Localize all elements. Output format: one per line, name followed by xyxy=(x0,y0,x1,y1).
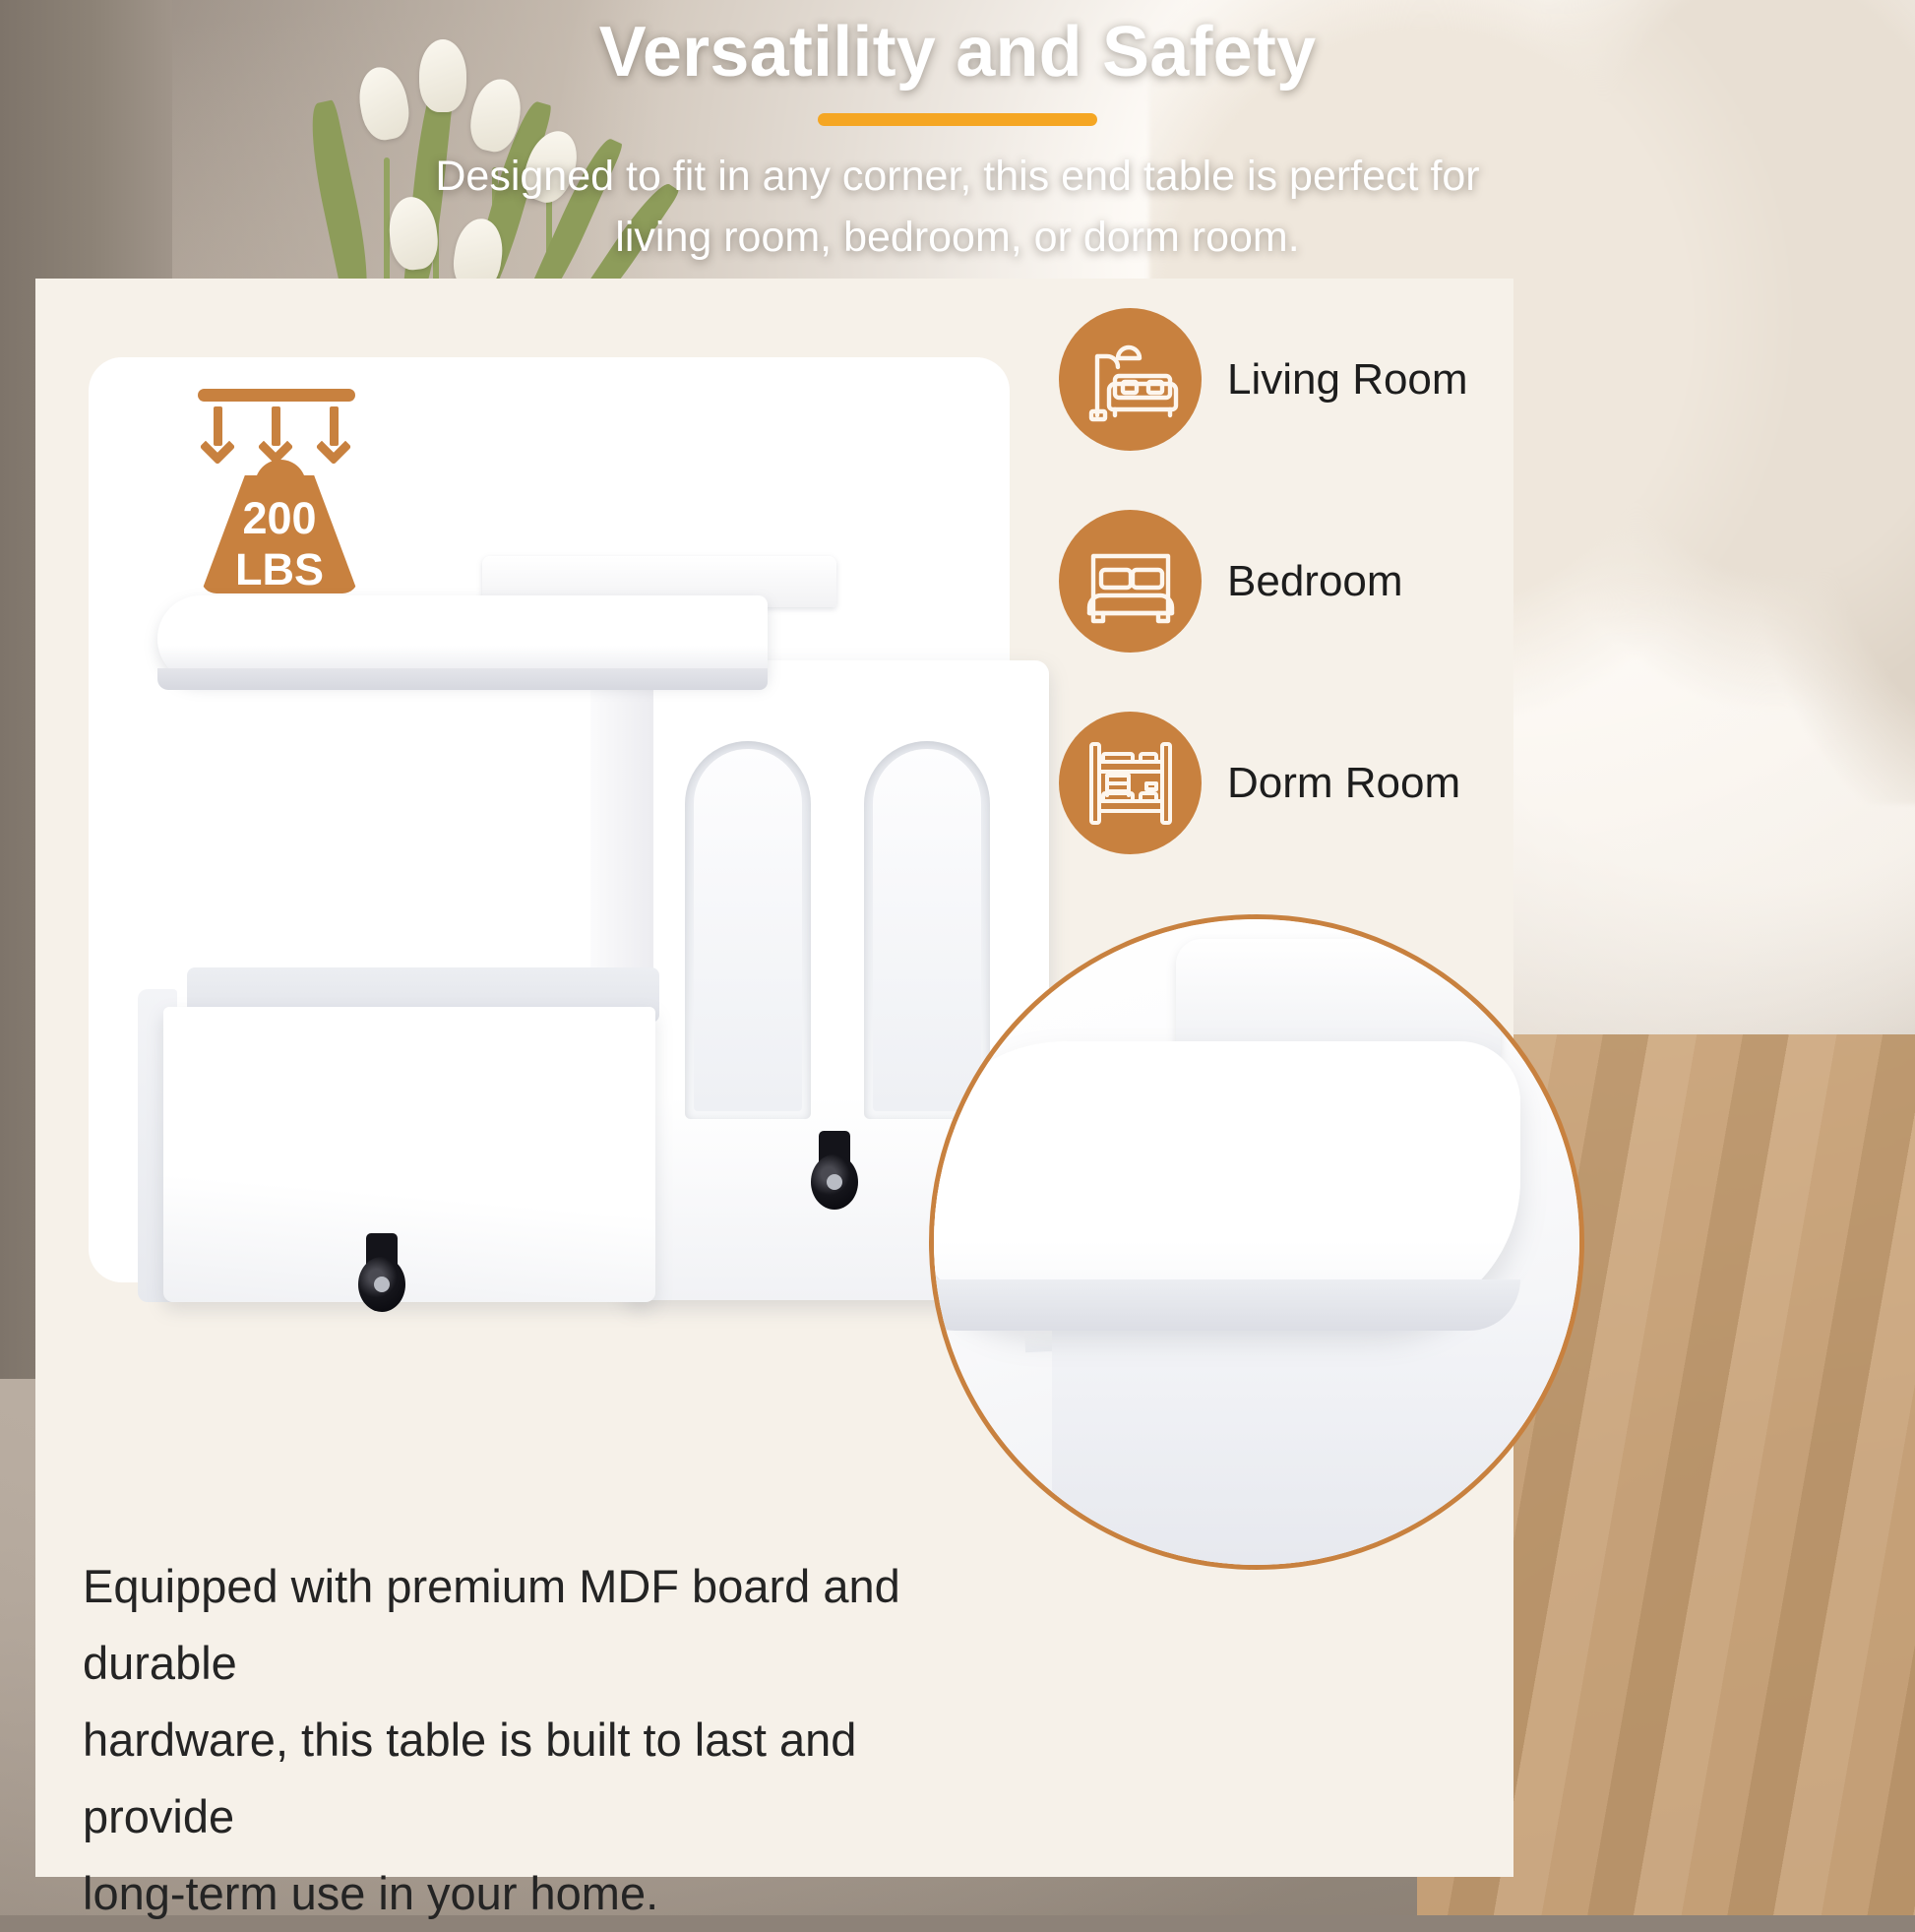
detail-closeup-circle xyxy=(929,914,1584,1570)
bottom-description: Equipped with premium MDF board and dura… xyxy=(83,1548,968,1932)
feature-label: Living Room xyxy=(1227,355,1468,405)
table-arch-opening xyxy=(685,741,811,1119)
title-underline-rule xyxy=(818,113,1097,126)
table-mid-divider xyxy=(590,682,653,977)
bottom-text-line-1: Equipped with premium MDF board and dura… xyxy=(83,1548,968,1702)
down-arrow-icon xyxy=(261,406,290,467)
feature-item-bedroom[interactable]: Bedroom xyxy=(1059,510,1482,653)
bottom-text-line-2: hardware, this table is built to last an… xyxy=(83,1702,968,1855)
detail-tabletop-edge xyxy=(929,1279,1520,1331)
product-end-table-illustration xyxy=(128,544,974,1263)
living-room-sofa-lamp-icon xyxy=(1059,308,1202,451)
feature-item-dorm-room[interactable]: Dorm Room xyxy=(1059,712,1482,854)
down-arrow-icon xyxy=(319,406,348,467)
feature-label: Bedroom xyxy=(1227,557,1403,606)
dorm-room-bunk-bed-icon xyxy=(1059,712,1202,854)
content-card: 200 LBS xyxy=(35,279,1513,1877)
bottom-text-line-3: long-term use in your home. xyxy=(83,1855,968,1932)
weight-value: 200 xyxy=(242,493,316,543)
feature-label: Dorm Room xyxy=(1227,759,1460,808)
subtitle-line-1: Designed to fit in any corner, this end … xyxy=(0,146,1915,207)
feature-list: Living Room Bedroom xyxy=(1059,308,1482,913)
table-top-shelf-edge xyxy=(157,668,768,690)
product-image-panel: 200 LBS xyxy=(89,357,1010,1282)
table-lower-bin-front xyxy=(163,1007,655,1302)
detail-back-riser xyxy=(1176,939,1501,1057)
subtitle: Designed to fit in any corner, this end … xyxy=(0,146,1915,268)
bedroom-bed-icon xyxy=(1059,510,1202,653)
feature-item-living-room[interactable]: Living Room xyxy=(1059,308,1482,451)
caster-wheel-icon xyxy=(354,1233,409,1318)
caster-wheel-icon xyxy=(807,1131,862,1215)
page-title: Versatility and Safety xyxy=(0,12,1915,93)
subtitle-line-2: living room, bedroom, or dorm room. xyxy=(0,207,1915,268)
header: Versatility and Safety Designed to fit i… xyxy=(0,0,1915,295)
down-arrow-icon xyxy=(203,406,232,467)
load-surface-bar-icon xyxy=(198,389,355,402)
detail-cabinet-body xyxy=(1052,1305,1584,1570)
